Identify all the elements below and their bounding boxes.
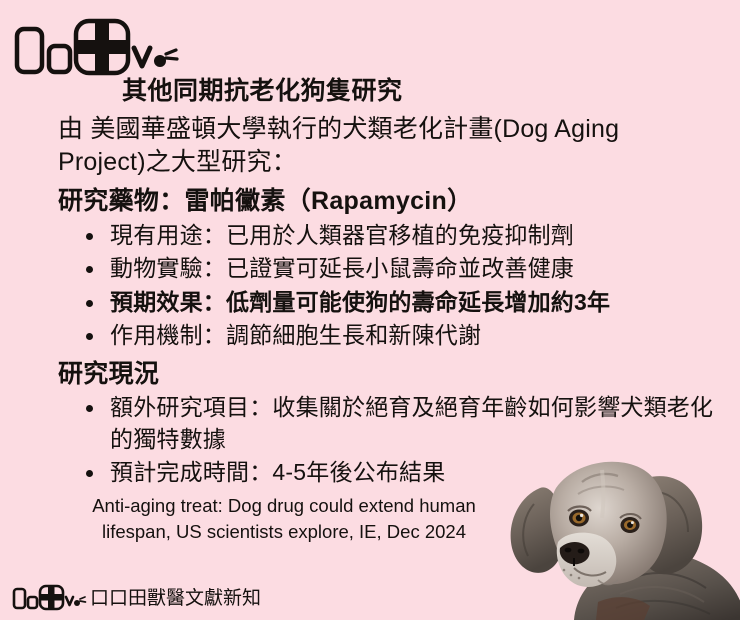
list-item: 動物實驗：已證實可延長小鼠壽命並改善健康	[84, 253, 716, 285]
vet-brand-logo	[14, 18, 184, 78]
slide-root: 其他同期抗老化狗隻研究 由 美國華盛頓大學執行的犬類老化計畫(Dog Aging…	[0, 0, 740, 620]
page-title: 其他同期抗老化狗隻研究	[0, 76, 740, 107]
list-item: 現有用途：已用於人類器官移植的免疫抑制劑	[84, 220, 716, 252]
lead-paragraph: 由 美國華盛頓大學執行的犬類老化計畫(Dog Aging Project)之大型…	[0, 113, 740, 179]
list-item: 預期效果：低劑量可能使狗的壽命延長增加約3年	[84, 287, 716, 319]
source-citation: Anti-aging treat: Dog drug could extend …	[0, 493, 740, 546]
list-item: 額外研究項目：收集關於絕育及絕育年齡如何影響犬類老化的獨特數據	[84, 392, 716, 455]
footer-brand: 口口田獸醫文獻新知	[12, 584, 261, 612]
logo-mark-icon	[14, 18, 184, 78]
slide-content: 其他同期抗老化狗隻研究 由 美國華盛頓大學執行的犬類老化計畫(Dog Aging…	[0, 76, 740, 545]
footer-label: 口口田獸醫文獻新知	[90, 589, 261, 608]
status-bullet-list: 額外研究項目：收集關於絕育及絕育年齡如何影響犬類老化的獨特數據 預計完成時間：4…	[0, 392, 740, 489]
footer-logo-mark-icon	[12, 584, 88, 612]
drug-heading: 研究藥物：雷帕黴素（Rapamycin）	[0, 185, 740, 218]
drug-bullet-list: 現有用途：已用於人類器官移植的免疫抑制劑 動物實驗：已證實可延長小鼠壽命並改善健…	[0, 220, 740, 352]
status-heading: 研究現況	[0, 358, 740, 391]
list-item: 預計完成時間：4-5年後公布結果	[84, 457, 716, 489]
list-item: 作用機制：調節細胞生長和新陳代謝	[84, 320, 716, 352]
